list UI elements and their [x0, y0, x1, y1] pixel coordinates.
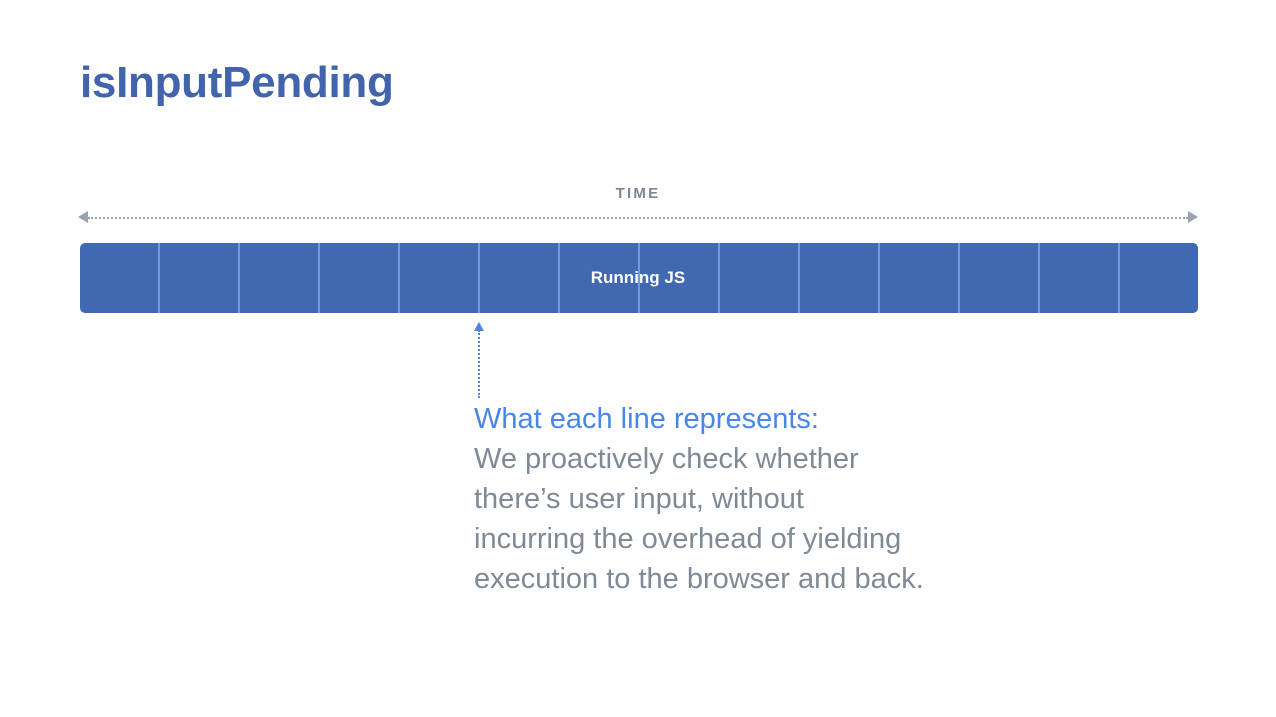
timeline-segment	[400, 243, 480, 313]
caption-heading: What each line represents:	[474, 399, 994, 439]
page-title: isInputPending	[80, 58, 394, 108]
timeline-segment	[1040, 243, 1120, 313]
time-axis-line	[88, 217, 1188, 219]
timeline-segment	[80, 243, 160, 313]
timeline-segment	[1120, 243, 1198, 313]
arrow-right-icon	[1188, 211, 1198, 223]
timeline-segment	[240, 243, 320, 313]
caption-line: execution to the browser and back.	[474, 559, 994, 599]
timeline-segment	[720, 243, 800, 313]
timeline-segment	[160, 243, 240, 313]
timeline-segment	[880, 243, 960, 313]
timeline-segment	[560, 243, 640, 313]
timeline-segment	[960, 243, 1040, 313]
timeline-segment	[320, 243, 400, 313]
slide-canvas: isInputPending TIME Running JS What each…	[0, 0, 1276, 717]
timeline-bar	[80, 243, 1198, 313]
callout-connector	[472, 322, 486, 398]
caption-line: incurring the overhead of yielding	[474, 519, 994, 559]
arrow-left-icon	[78, 211, 88, 223]
timeline-segment	[640, 243, 720, 313]
time-axis	[78, 208, 1198, 228]
timeline-segment	[800, 243, 880, 313]
caption-body: We proactively check whether there’s use…	[474, 439, 994, 599]
caption-line: there’s user input, without	[474, 479, 994, 519]
caption-block: What each line represents: We proactivel…	[474, 399, 994, 599]
connector-line	[478, 330, 480, 398]
time-axis-label: TIME	[0, 185, 1276, 202]
caption-line: We proactively check whether	[474, 439, 994, 479]
timeline-segment	[480, 243, 560, 313]
